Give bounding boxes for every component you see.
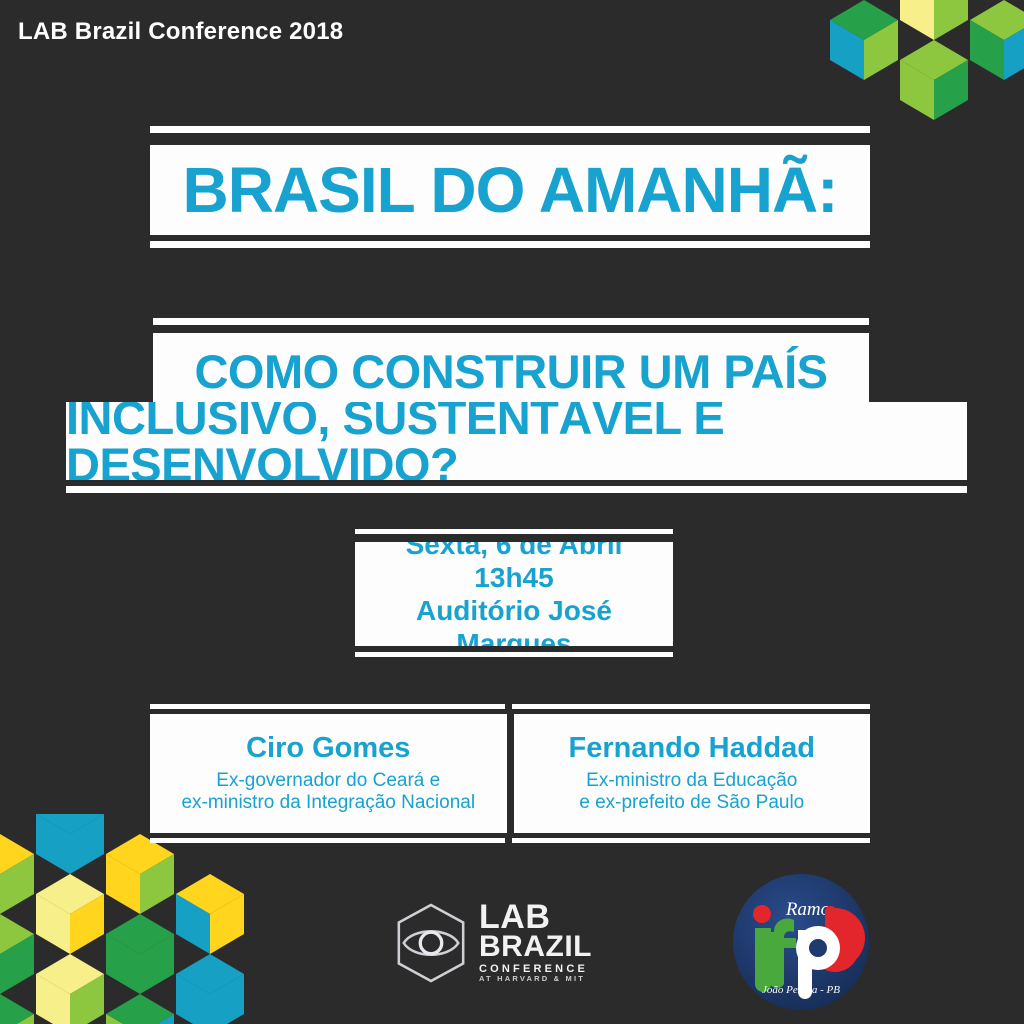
speaker-rule-bottom-left (150, 838, 505, 843)
speakers-row: Ciro Gomes Ex-governador do Ceará e ex-m… (150, 714, 870, 833)
subtitle-rule-top (153, 318, 869, 325)
event-time: 13h45 (474, 561, 553, 594)
lab-logo-line-3: CONFERENCE (479, 964, 592, 974)
svg-text:Ramo: Ramo (785, 899, 830, 920)
subtitle-line-1: COMO CONSTRUIR UM PAÍS (153, 333, 869, 410)
speaker-role-line-2: ex-ministro da Integração Nacional (181, 792, 475, 814)
subtitle-line-2: INCLUSIVO, SUSTENTÁVEL E DESENVOLVIDO? (66, 402, 967, 480)
speaker-name: Fernando Haddad (568, 733, 815, 765)
event-venue: Auditório José Marques (355, 594, 673, 646)
isometric-cube-pattern-bottom-left-icon (0, 814, 280, 1024)
event-header-title: LAB Brazil Conference 2018 (18, 18, 343, 46)
title-rule-top (150, 126, 870, 133)
lab-hexagon-eye-icon (392, 902, 470, 984)
speaker-rule-top-right (512, 704, 870, 709)
ifpb-ramo-logo-icon: Ramo João Pessoa - PB (722, 872, 880, 1012)
speaker-rule-bottom-right (512, 838, 870, 843)
svg-text:João Pessoa - PB: João Pessoa - PB (762, 984, 840, 996)
lab-wordmark: LAB BRAZIL CONFERENCE AT HARVARD & MIT (479, 902, 592, 983)
speaker-name: Ciro Gomes (246, 733, 410, 765)
title-rule-bottom (150, 241, 870, 248)
lab-logo-line-2: BRAZIL (479, 933, 592, 961)
page-title: BRASIL DO AMANHÃ: (150, 145, 870, 235)
lab-brazil-logo: LAB BRAZIL CONFERENCE AT HARVARD & MIT (392, 890, 587, 995)
event-date: Sexta, 6 de Abril (406, 542, 623, 561)
subtitle-rule-bottom (66, 486, 967, 493)
speaker-card-ciro-gomes: Ciro Gomes Ex-governador do Ceará e ex-m… (150, 714, 507, 833)
poster-canvas: LAB Brazil Conference 2018 BRASIL DO AMA… (0, 0, 1024, 1024)
lab-logo-line-4: AT HARVARD & MIT (479, 976, 592, 983)
event-details-block: Sexta, 6 de Abril 13h45 Auditório José M… (355, 542, 673, 646)
speaker-rule-top-left (150, 704, 505, 709)
speaker-role-line-2: e ex-prefeito de São Paulo (579, 792, 804, 814)
speaker-card-fernando-haddad: Fernando Haddad Ex-ministro da Educação … (514, 714, 871, 833)
speaker-role-line-1: Ex-ministro da Educação (586, 770, 797, 792)
lab-logo-line-1: LAB (479, 902, 592, 933)
speaker-role-line-1: Ex-governador do Ceará e (216, 770, 440, 792)
event-details-rule-top (355, 529, 673, 534)
event-details-rule-bottom (355, 652, 673, 657)
